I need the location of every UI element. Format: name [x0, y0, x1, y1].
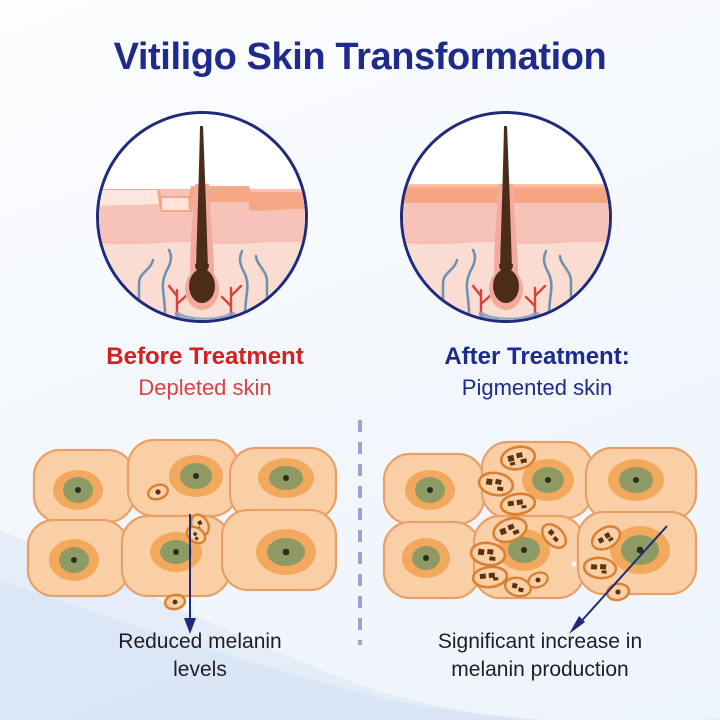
before-note: Reduced melanin levels	[50, 628, 350, 683]
skin-cross-section-depleted-svg	[99, 114, 305, 320]
before-caption: Before Treatment Depleted skin	[40, 342, 370, 402]
skin-cross-section-pigmented-svg	[403, 114, 609, 320]
before-heading: Before Treatment	[40, 342, 370, 371]
after-note-line2: melanin production	[451, 658, 628, 681]
after-subheading: Pigmented skin	[372, 375, 702, 402]
before-note-line1: Reduced melanin	[118, 630, 281, 653]
after-note-line1: Significant increase in	[438, 630, 642, 653]
after-circle-diagram	[400, 111, 612, 323]
after-cell-cluster	[378, 432, 708, 612]
before-cell-cluster	[18, 432, 348, 612]
before-skin-illustration	[96, 111, 308, 323]
vertical-divider	[358, 420, 362, 645]
after-heading: After Treatment:	[372, 342, 702, 371]
before-subheading: Depleted skin	[40, 375, 370, 402]
before-note-line2: levels	[173, 658, 227, 681]
after-note: Significant increase in melanin producti…	[372, 628, 708, 683]
after-skin-illustration	[400, 111, 612, 323]
page-title: Vitiligo Skin Transformation	[0, 36, 720, 79]
before-circle-diagram	[96, 111, 308, 323]
infographic-canvas: Vitiligo Skin Transformation	[0, 0, 720, 720]
after-caption: After Treatment: Pigmented skin	[372, 342, 702, 402]
